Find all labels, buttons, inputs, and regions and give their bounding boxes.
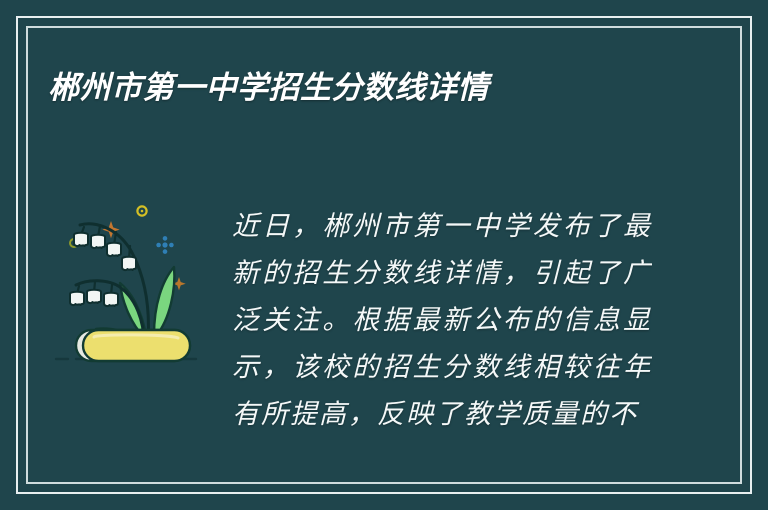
content-area: 近日，郴州市第一中学发布了最新的招生分数线详情，引起了广泛关注。根据最新公布的信… xyxy=(50,185,718,465)
poster-page: { "page": { "background_color": "#1f454c… xyxy=(0,0,768,510)
flower-bells-short xyxy=(70,290,118,306)
flower-pot-icon xyxy=(76,330,190,361)
illustration-lily-of-the-valley xyxy=(50,193,220,393)
plant-illustration-svg xyxy=(50,193,220,393)
sparkle-blue-flower-icon xyxy=(156,236,173,254)
article-body-text: 近日，郴州市第一中学发布了最新的招生分数线详情，引起了广泛关注。根据最新公布的信… xyxy=(232,203,652,438)
page-title: 郴州市第一中学招生分数线详情 xyxy=(48,66,489,110)
sparkle-yellow-dot-icon xyxy=(137,206,146,215)
flower-bells-tall xyxy=(74,233,136,270)
